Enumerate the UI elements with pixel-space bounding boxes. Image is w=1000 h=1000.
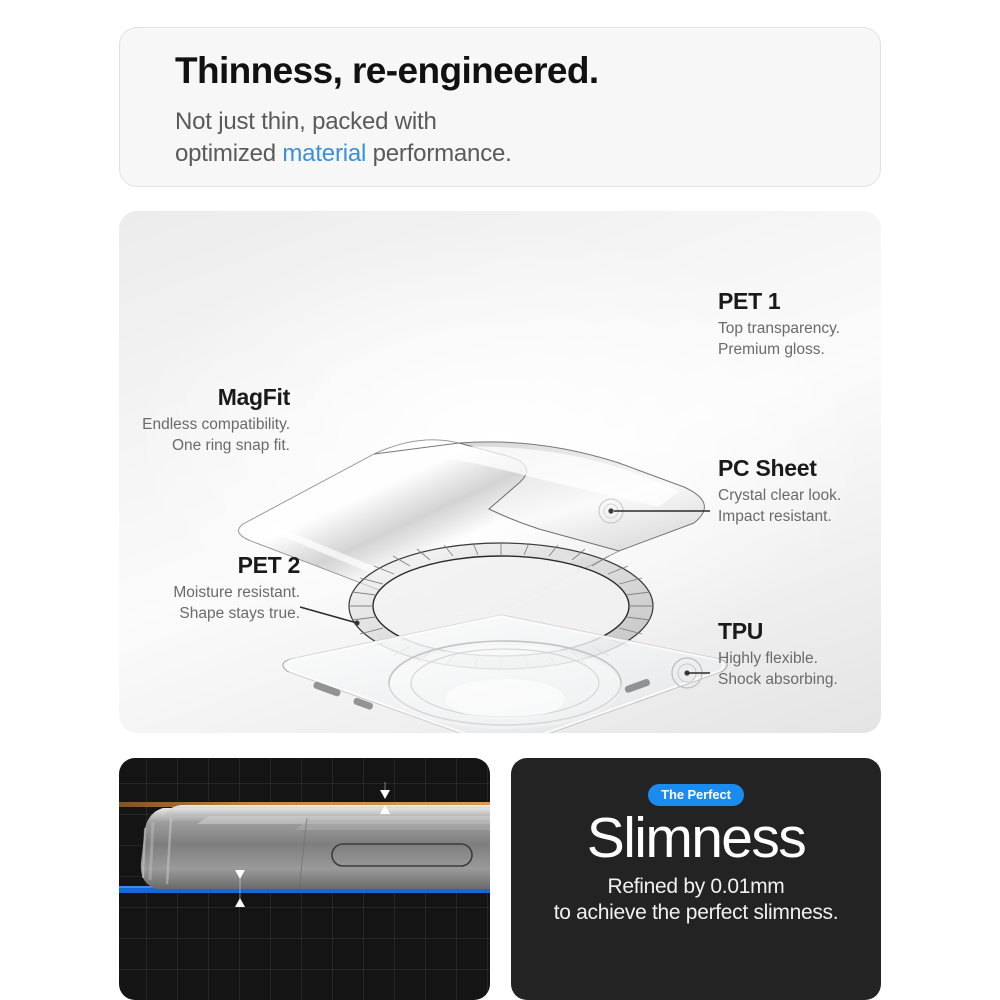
callout-pet1-desc: Top transparency. Premium gloss.: [718, 319, 840, 360]
callout-pc-sheet-desc-line1: Crystal clear look.: [718, 487, 841, 504]
slimness-badge: The Perfect: [648, 784, 744, 806]
callout-pet2: PET 2 Moisture resistant. Shape stays tr…: [0, 552, 300, 625]
anchor-dot-pcsheet: [684, 670, 689, 675]
subtitle-line-1: Not just thin, packed with: [175, 108, 437, 135]
subtitle-suffix: performance.: [366, 140, 511, 167]
callout-pet2-desc-line2: Shape stays true.: [179, 605, 300, 622]
page-subtitle: Not just thin, packed with optimized mat…: [175, 106, 512, 169]
slimness-subtitle: Refined by 0.01mm to achieve the perfect…: [511, 874, 881, 928]
callout-tpu-desc: Highly flexible. Shock absorbing.: [718, 649, 838, 690]
slimness-sub-line2: to achieve the perfect slimness.: [554, 901, 839, 924]
callout-magfit-title: MagFit: [0, 384, 290, 410]
callout-pc-sheet-desc: Crystal clear look. Impact resistant.: [718, 486, 841, 527]
callout-tpu-desc-line1: Highly flexible.: [718, 650, 818, 667]
callout-pc-sheet: PC Sheet Crystal clear look. Impact resi…: [718, 455, 841, 528]
callout-pet1-title: PET 1: [718, 288, 840, 314]
slimness-card: The Perfect Slimness Refined by 0.01mm t…: [511, 758, 881, 1000]
callout-magfit-desc-line2: One ring snap fit.: [172, 437, 290, 454]
callout-magfit-desc: Endless compatibility. One ring snap fit…: [0, 415, 290, 456]
case-edge-measurement-panel: [119, 758, 490, 1000]
subtitle-accent-word: material: [282, 140, 366, 167]
callout-magfit: MagFit Endless compatibility. One ring s…: [0, 384, 290, 457]
layer-pc-sheet: [283, 615, 727, 733]
callout-tpu-desc-line2: Shock absorbing.: [718, 671, 838, 688]
slimness-sub-line1: Refined by 0.01mm: [608, 875, 785, 898]
marker-top-down-triangle: [380, 790, 390, 799]
callout-pet1-desc-line2: Premium gloss.: [718, 341, 825, 358]
callout-pet2-title: PET 2: [0, 552, 300, 578]
case-edge-illustration: [119, 758, 490, 1000]
callout-pet1-desc-line1: Top transparency.: [718, 320, 840, 337]
callout-tpu: TPU Highly flexible. Shock absorbing.: [718, 618, 838, 691]
anchor-dot-pet1: [608, 508, 613, 513]
callout-pet2-desc-line1: Moisture resistant.: [173, 584, 300, 601]
subtitle-prefix: optimized: [175, 140, 282, 167]
callout-magfit-desc-line1: Endless compatibility.: [142, 416, 290, 433]
callout-tpu-title: TPU: [718, 618, 838, 644]
callout-pc-sheet-desc-line2: Impact resistant.: [718, 508, 832, 525]
callout-pc-sheet-title: PC Sheet: [718, 455, 841, 481]
infographic-page: Thinness, re-engineered. Not just thin, …: [0, 0, 1000, 1000]
page-title: Thinness, re-engineered.: [175, 50, 599, 92]
case-edge-top-rail: [165, 805, 490, 816]
slimness-title: Slimness: [511, 808, 881, 870]
callout-pet2-desc: Moisture resistant. Shape stays true.: [0, 583, 300, 624]
header-card: Thinness, re-engineered. Not just thin, …: [119, 27, 881, 187]
anchor-dot-magfit: [354, 620, 359, 625]
callout-pet1: PET 1 Top transparency. Premium gloss.: [718, 288, 840, 361]
